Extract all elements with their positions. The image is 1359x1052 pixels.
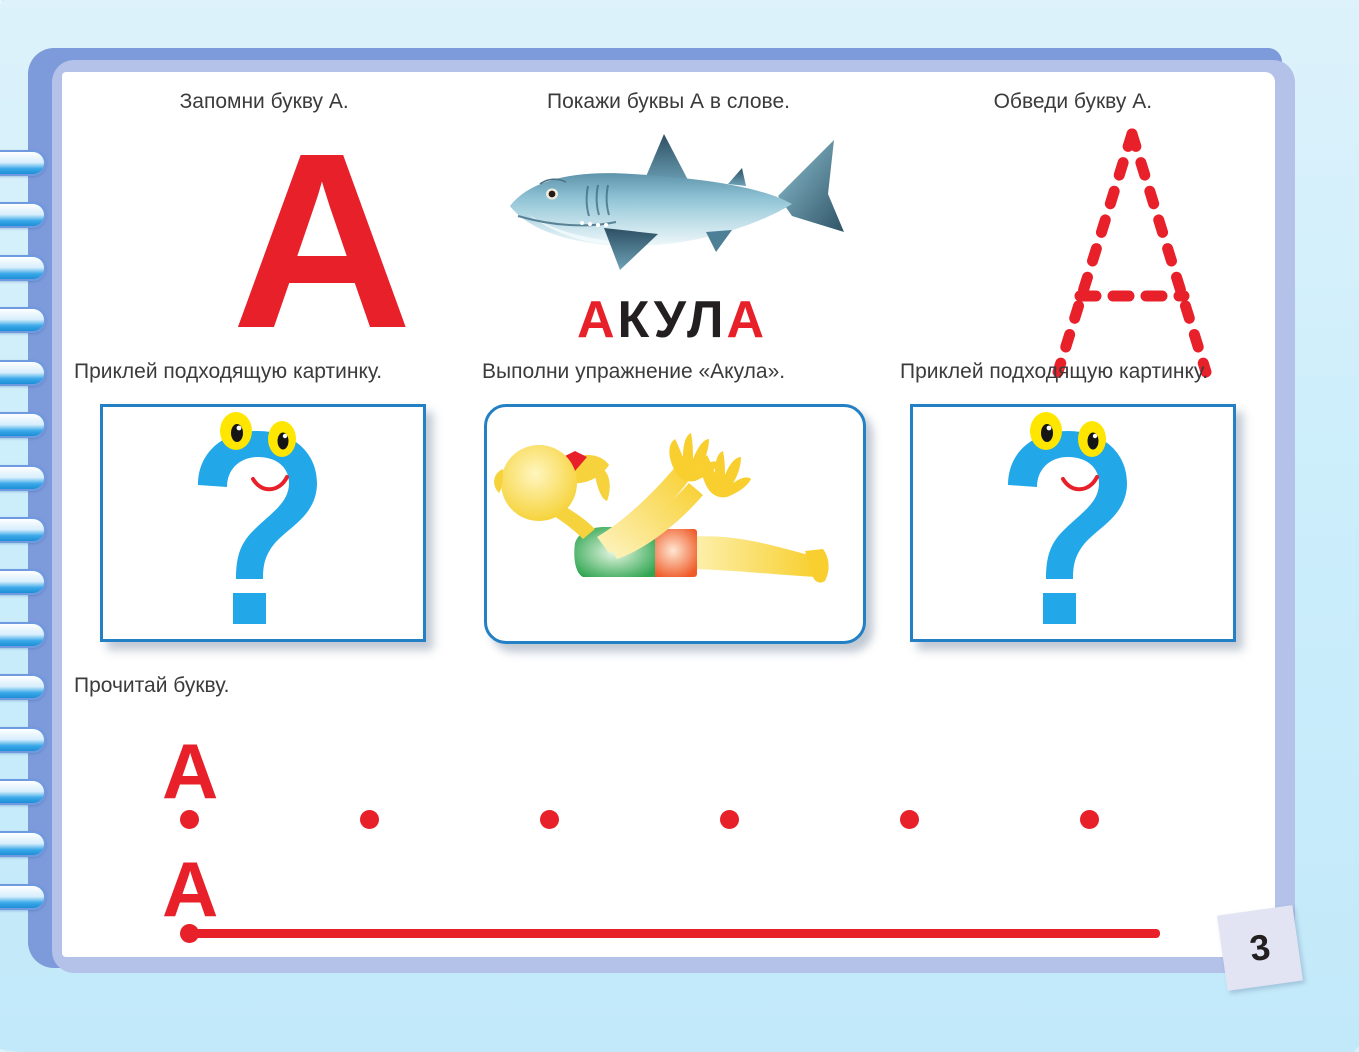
big-letter-a: А: [162, 116, 482, 366]
word-akula: АКУЛА: [492, 290, 852, 350]
sticker-slot-left[interactable]: [100, 404, 426, 642]
instruction-paste-picture-left: Приклей подходящую картинку.: [74, 360, 382, 384]
spiral-ring: [0, 779, 46, 805]
instruction-paste-picture-right: Приклей подходящую картинку.: [900, 360, 1208, 384]
trace-dot: [360, 810, 379, 829]
spiral-binding: [0, 150, 66, 910]
trace-letter-a[interactable]: [992, 118, 1272, 388]
guide-letter-a-dots: А: [162, 732, 218, 810]
exercise-illustration-card: [484, 404, 866, 644]
spiral-ring: [0, 412, 46, 438]
trace-dot-row[interactable]: [180, 810, 1190, 832]
trace-dot: [540, 810, 559, 829]
spiral-ring: [0, 255, 46, 281]
trace-dot: [1080, 810, 1099, 829]
trace-line-row[interactable]: [180, 924, 1190, 944]
instruction-trace-letter: Обведи букву А.: [871, 90, 1275, 114]
spiral-ring: [0, 202, 46, 228]
word-middle-letters: КУЛ: [618, 291, 727, 349]
page-number: 3: [1247, 926, 1273, 970]
trace-dot: [900, 810, 919, 829]
solid-trace-line: [188, 929, 1160, 938]
shark-illustration: [492, 124, 852, 294]
trace-dot: [180, 810, 199, 829]
sticker-slot-right[interactable]: [910, 404, 1236, 642]
spiral-ring: [0, 622, 46, 648]
instruction-do-exercise: Выполни упражнение «Акула».: [482, 360, 785, 384]
spiral-ring: [0, 465, 46, 491]
trace-dot: [720, 810, 739, 829]
spiral-ring: [0, 727, 46, 753]
spiral-ring: [0, 674, 46, 700]
spiral-ring: [0, 517, 46, 543]
worksheet-content: Запомни букву А. Покажи буквы А в слове.…: [62, 72, 1275, 957]
instruction-read-letter: Прочитай букву.: [74, 674, 229, 698]
spiral-ring: [0, 831, 46, 857]
guide-letter-a-line: А: [162, 850, 218, 928]
spiral-ring: [0, 360, 46, 386]
word-letter-a-first: А: [577, 291, 618, 349]
page-number-badge: 3: [1217, 905, 1303, 991]
word-letter-a-last: А: [726, 291, 767, 349]
spiral-ring: [0, 569, 46, 595]
spiral-ring: [0, 307, 46, 333]
spiral-ring: [0, 150, 46, 176]
instruction-show-letters: Покажи буквы А в слове.: [466, 90, 870, 114]
spiral-ring: [0, 884, 46, 910]
